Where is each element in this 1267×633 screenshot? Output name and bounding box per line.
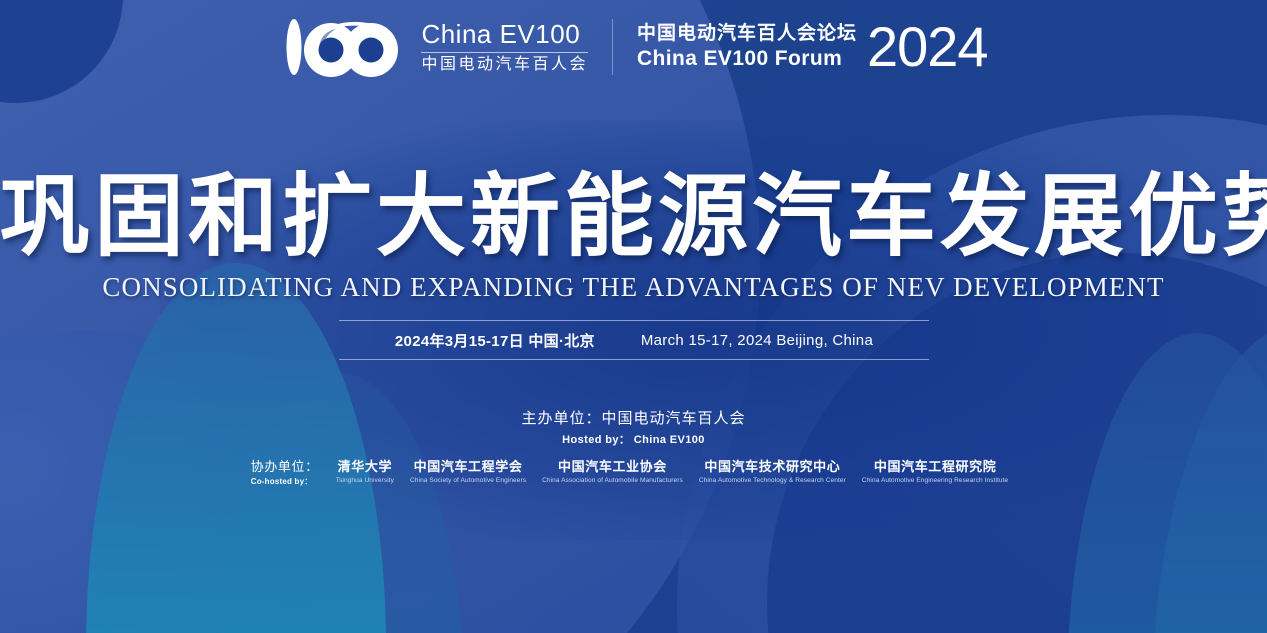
logo-wordmark: China EV100 中国电动汽车百人会 [421, 21, 588, 73]
cohost-item: 中国汽车技术研究中心 China Automotive Technology &… [691, 458, 854, 485]
background-light-band [0, 0, 760, 633]
cohost-item: 清华大学 Tsinghua University [328, 458, 402, 485]
host-english: Hosted by： China EV100 [0, 431, 1267, 451]
cohost-name-chinese: 中国汽车技术研究中心 [704, 458, 840, 476]
forum-year: 2024 [867, 21, 988, 73]
host-block: 主办单位：中国电动汽车百人会 Hosted by： China EV100 [0, 408, 1267, 450]
cohost-name-english: Tsinghua University [336, 476, 394, 485]
cohost-name-english: China Society of Automotive Engineers [410, 476, 526, 485]
main-title-english: CONSOLIDATING AND EXPANDING THE ADVANTAG… [0, 274, 1267, 301]
date-venue-strip: 2024年3月15-17日 中国·北京 March 15-17, 2024 Be… [339, 320, 929, 360]
logo-divider [421, 52, 588, 53]
cohost-name-chinese: 清华大学 [338, 458, 392, 476]
cohost-name-chinese: 中国汽车工程学会 [414, 458, 523, 476]
forum-chinese-name: 中国电动汽车百人会论坛 [637, 22, 857, 46]
logo-english-name: China EV100 [421, 21, 580, 47]
date-venue-chinese: 2024年3月15-17日 中国·北京 [395, 330, 595, 351]
date-venue-english: March 15-17, 2024 Beijing, China [641, 332, 873, 349]
cohost-item: 中国汽车工程研究院 China Automotive Engineering R… [854, 458, 1016, 485]
header-vertical-divider [612, 19, 613, 75]
cohost-name-chinese: 中国汽车工业协会 [558, 458, 667, 476]
cohost-name-english: China Association of Automobile Manufact… [542, 476, 683, 485]
cohost-name-english: China Automotive Technology & Research C… [699, 476, 846, 485]
forum-title-block: 中国电动汽车百人会论坛 China EV100 Forum 2024 [637, 21, 988, 73]
cohost-label-chinese: 协办单位： [251, 458, 319, 476]
main-title-chinese: 巩固和扩大新能源汽车发展优势 [0, 172, 1267, 262]
cohost-item: 中国汽车工业协会 China Association of Automobile… [534, 458, 691, 485]
forum-english-name: China EV100 Forum [637, 46, 842, 72]
cohost-item: 中国汽车工程学会 China Society of Automotive Eng… [402, 458, 534, 485]
cohost-name-english: China Automotive Engineering Research In… [862, 476, 1008, 485]
china-ev100-logo-icon [279, 14, 403, 80]
cohost-label-english: Co-hosted by： [251, 476, 313, 487]
forum-name-wrap: 中国电动汽车百人会论坛 China EV100 Forum [637, 22, 857, 72]
host-chinese: 主办单位：中国电动汽车百人会 [0, 408, 1267, 431]
conference-banner: China EV100 中国电动汽车百人会 中国电动汽车百人会论坛 China … [0, 0, 1267, 633]
banner-header: China EV100 中国电动汽车百人会 中国电动汽车百人会论坛 China … [0, 14, 1267, 80]
logo-chinese-name: 中国电动汽车百人会 [421, 57, 588, 73]
cohost-label: 协办单位： Co-hosted by： [251, 458, 319, 487]
logo-lockup: China EV100 中国电动汽车百人会 中国电动汽车百人会论坛 China … [279, 14, 987, 80]
cohost-name-chinese: 中国汽车工程研究院 [874, 458, 996, 476]
cohost-block: 协办单位： Co-hosted by： 清华大学 Tsinghua Univer… [0, 458, 1267, 487]
